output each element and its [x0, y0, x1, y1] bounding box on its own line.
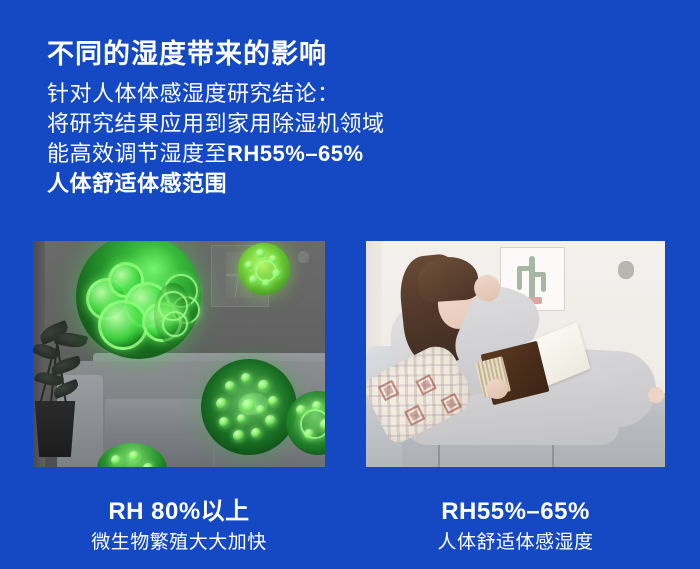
body-copy-line-3: 能高效调节湿度至RH55%–65%: [47, 139, 385, 169]
caption-comfort-humidity: RH55%–65% 人体舒适体感湿度: [366, 497, 665, 556]
caption-subtitle: 人体舒适体感湿度: [366, 530, 665, 556]
wall-knob: [618, 261, 634, 279]
microbe-medium: [201, 359, 297, 455]
caption-high-humidity: RH 80%以上 微生物繁殖大大加快: [33, 497, 325, 556]
microbe-faint: [154, 283, 192, 345]
page-title: 不同的湿度带来的影响: [47, 37, 327, 71]
body-copy-line-3-emphasis: RH55%–65%: [227, 141, 364, 166]
person-foot: [648, 387, 664, 403]
person-hand-holding-book: [486, 379, 508, 399]
caption-title: RH55%–65%: [366, 497, 665, 526]
sofa-cushion: [105, 399, 213, 433]
cactus-arm: [517, 266, 533, 271]
humidity-comparison-slide: 不同的湿度带来的影响 针对人体体感湿度研究结论： 将研究结果应用到家用除湿机领域…: [0, 0, 700, 569]
plant-pot: [33, 401, 77, 457]
caption-subtitle: 微生物繁殖大大加快: [33, 530, 325, 556]
body-copy-line-4: 人体舒适体感范围: [47, 169, 385, 199]
microbe-small: [238, 243, 290, 295]
caption-title: RH 80%以上: [33, 497, 325, 526]
body-copy-line-2: 将研究结果应用到家用除湿机领域: [47, 109, 385, 139]
photo-high-humidity: [33, 241, 325, 467]
body-copy: 针对人体体感湿度研究结论： 将研究结果应用到家用除湿机领域 能高效调节湿度至RH…: [47, 79, 385, 199]
photo-comfort-humidity: [366, 241, 665, 467]
cactus-arm: [531, 272, 545, 277]
body-copy-line-1: 针对人体体感湿度研究结论：: [47, 79, 385, 109]
wall-knob: [298, 251, 309, 263]
body-copy-line-3-prefix: 能高效调节湿度至: [47, 141, 227, 166]
